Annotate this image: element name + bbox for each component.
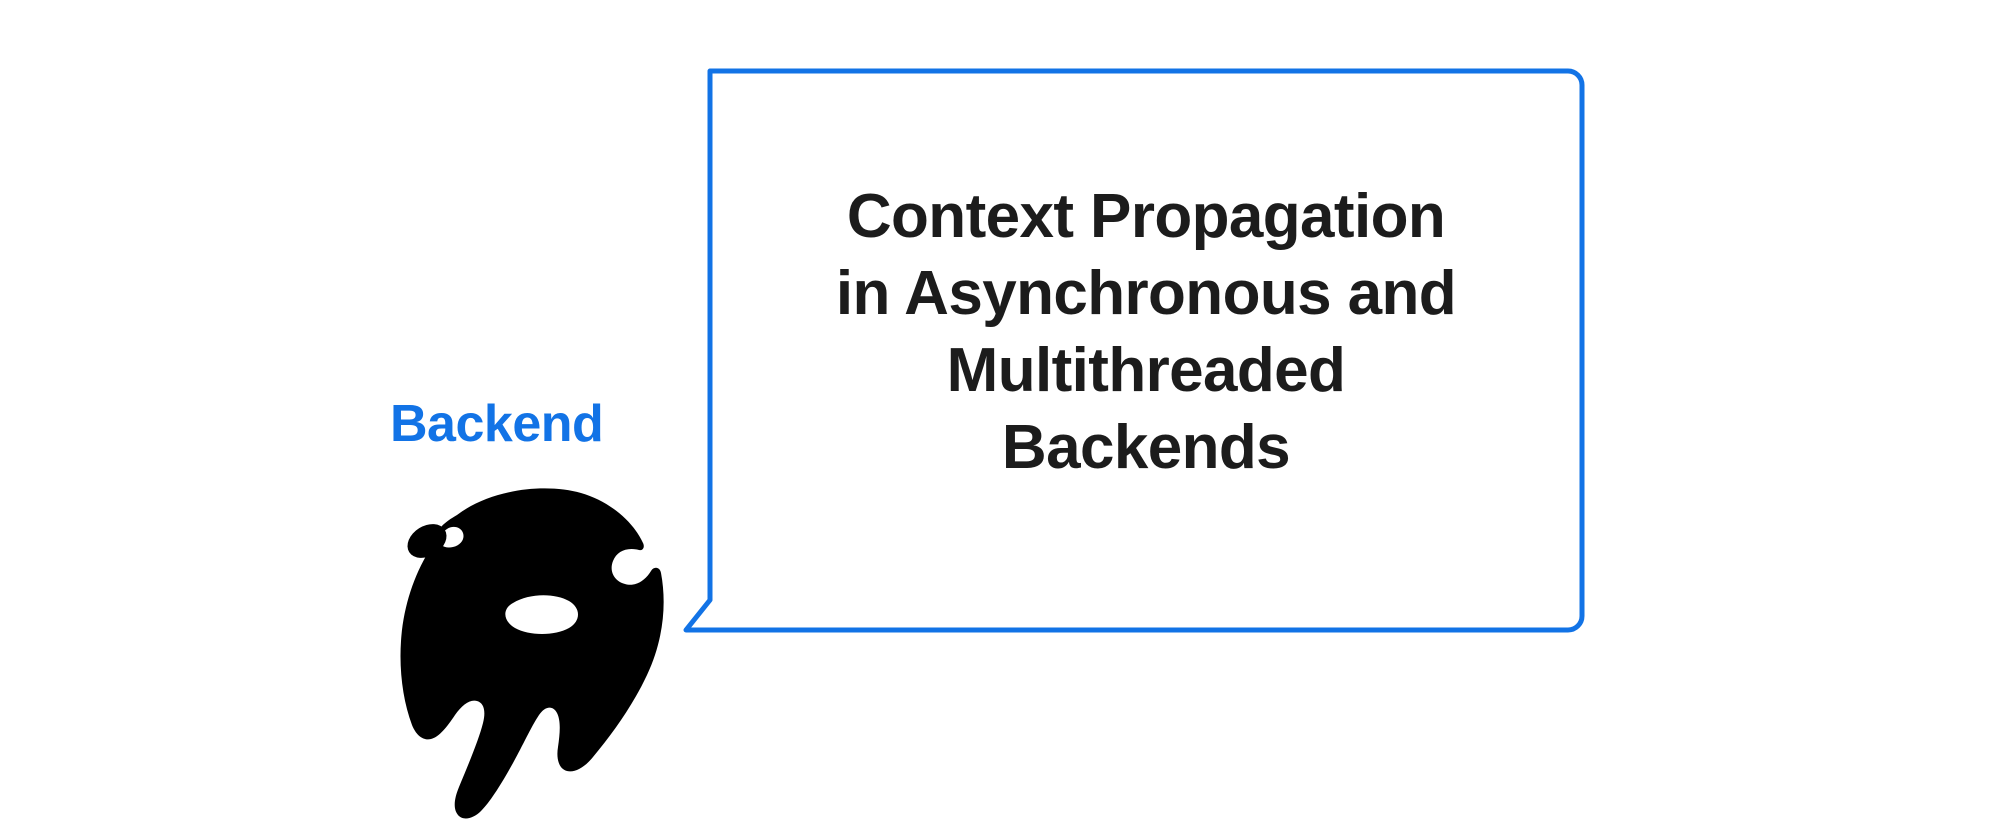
bubble-title-block: Context Propagation in Asynchronous and … [708,57,1584,637]
mascot-blob [395,485,665,825]
title-line-1: Context Propagation [847,178,1445,255]
title-line-3: Multithreaded [947,332,1346,409]
poster-canvas: Backend Context Propagation in Asynchron… [0,0,2000,840]
backend-label: Backend [390,393,603,455]
title-line-2: in Asynchronous and [836,255,1456,332]
ink-blob-icon [395,485,665,825]
speech-bubble: Context Propagation in Asynchronous and … [686,47,1606,647]
title-line-4: Backends [1002,409,1290,486]
